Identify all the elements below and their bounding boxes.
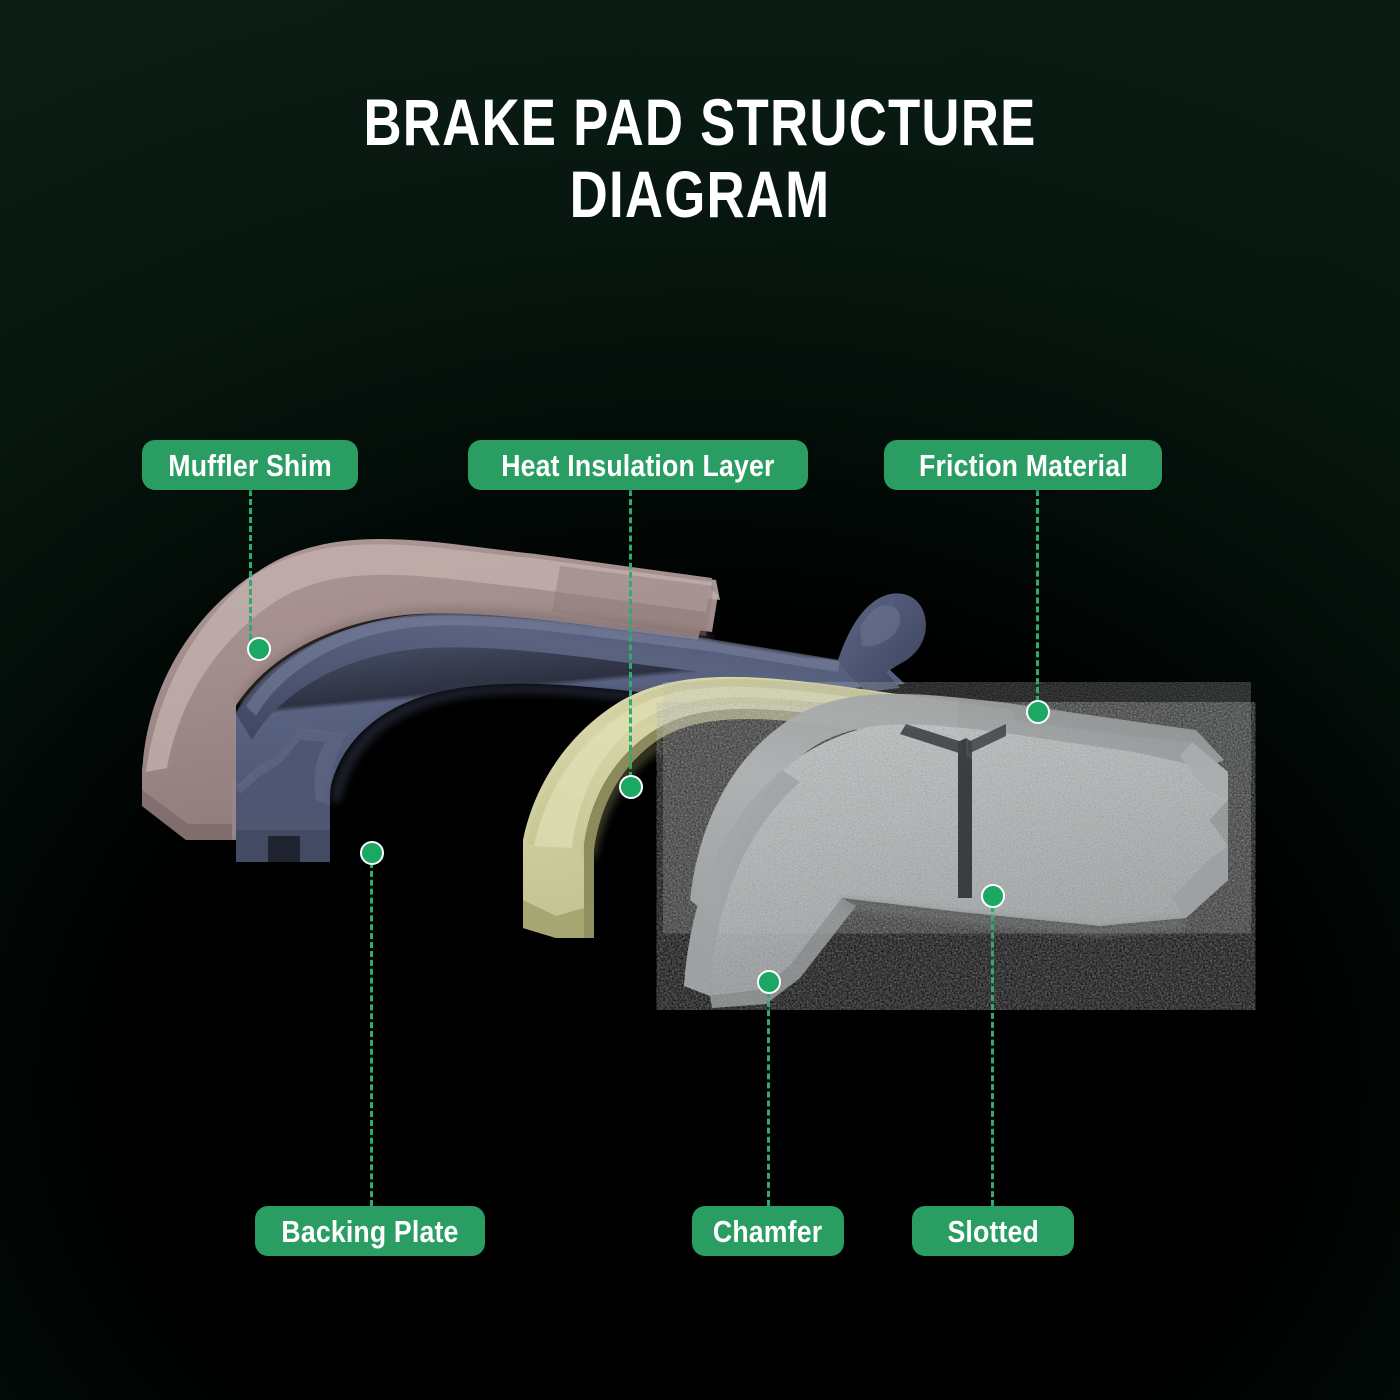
label-text-heat-insulation-layer: Heat Insulation Layer — [501, 450, 774, 481]
leader-line-heat-insulation-layer — [629, 490, 632, 778]
leader-line-muffler-shim — [249, 490, 252, 640]
label-badge-backing-plate[interactable]: Backing Plate — [255, 1206, 485, 1256]
marker-dot-muffler-shim — [247, 637, 271, 661]
label-text-slotted: Slotted — [947, 1216, 1039, 1247]
diagram-canvas: BRAKE PAD STRUCTURE DIAGRAM — [0, 0, 1400, 1400]
label-badge-slotted[interactable]: Slotted — [912, 1206, 1074, 1256]
leader-line-backing-plate — [370, 862, 373, 1206]
label-badge-chamfer[interactable]: Chamfer — [692, 1206, 844, 1256]
page-title: BRAKE PAD STRUCTURE DIAGRAM — [0, 86, 1400, 230]
marker-dot-chamfer — [757, 970, 781, 994]
label-text-friction-material: Friction Material — [919, 450, 1128, 481]
label-badge-friction-material[interactable]: Friction Material — [884, 440, 1162, 490]
leader-line-slotted — [991, 906, 994, 1206]
marker-dot-slotted — [981, 884, 1005, 908]
marker-dot-heat-insulation-layer — [619, 775, 643, 799]
title-line-1: BRAKE PAD STRUCTURE — [140, 86, 1260, 158]
marker-dot-friction-material — [1026, 700, 1050, 724]
label-text-muffler-shim: Muffler Shim — [168, 450, 332, 481]
leader-line-friction-material — [1036, 490, 1039, 702]
label-text-backing-plate: Backing Plate — [281, 1216, 458, 1247]
friction-material-layer — [684, 693, 1228, 1008]
leader-line-chamfer — [767, 992, 770, 1206]
label-badge-muffler-shim[interactable]: Muffler Shim — [142, 440, 358, 490]
marker-dot-backing-plate — [360, 841, 384, 865]
label-badge-heat-insulation-layer[interactable]: Heat Insulation Layer — [468, 440, 808, 490]
label-text-chamfer: Chamfer — [713, 1216, 822, 1247]
title-line-2: DIAGRAM — [140, 158, 1260, 230]
